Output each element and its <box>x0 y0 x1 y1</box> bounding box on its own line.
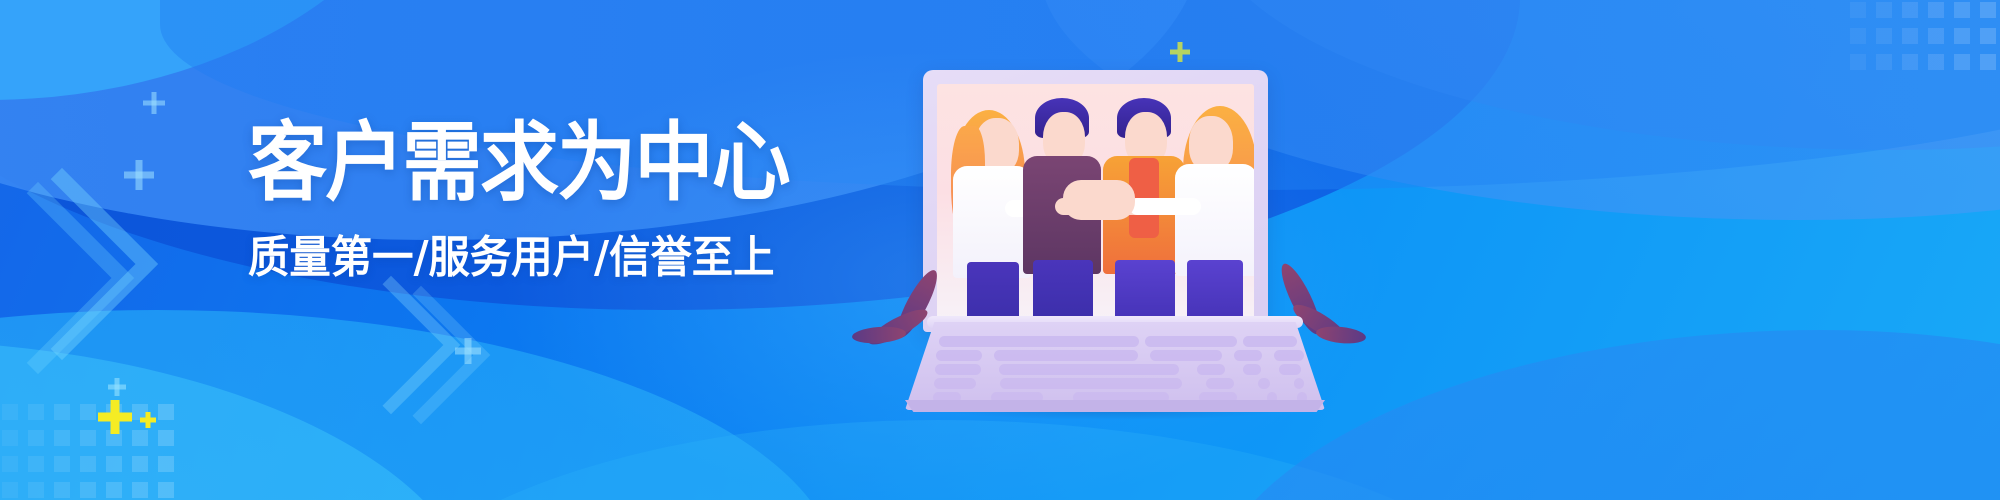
keyboard-key <box>1243 336 1297 347</box>
promotional-banner: 客户需求为中心 质量第一/服务用户/信誉至上 <box>0 0 2000 500</box>
grid-square <box>1928 54 1944 70</box>
grid-square <box>80 482 96 498</box>
leaf-left-3 <box>852 325 907 345</box>
grid-square <box>1954 2 1970 18</box>
grid-square <box>1876 2 1892 18</box>
keyboard-row <box>905 364 1325 375</box>
grid-square <box>80 456 96 472</box>
grid-square <box>2 456 18 472</box>
keyboard-key <box>1243 364 1261 375</box>
plus-icon-soft-bottom <box>108 378 126 396</box>
keyboard-key <box>935 364 981 375</box>
grid-square <box>2 430 18 446</box>
grid-square <box>158 456 174 472</box>
legs <box>1033 260 1093 324</box>
keyboard-row <box>905 350 1325 361</box>
arm <box>1129 198 1201 215</box>
plus-icon-yellow-tiny <box>140 412 156 428</box>
laptop-base-edge <box>905 400 1325 412</box>
keyboard-key <box>1294 378 1304 389</box>
grid-square <box>1980 2 1996 18</box>
grid-square <box>132 456 148 472</box>
background-wave-light-corner <box>0 0 440 100</box>
keyboard-key <box>1258 378 1270 389</box>
grid-square <box>54 404 70 420</box>
keyboard-key <box>1145 336 1237 347</box>
grid-square <box>1876 54 1892 70</box>
grid-square <box>158 404 174 420</box>
grid-square <box>1902 2 1918 18</box>
grid-square <box>54 430 70 446</box>
keyboard-key <box>934 378 976 389</box>
grid-square <box>54 482 70 498</box>
grid-square <box>80 430 96 446</box>
legs <box>1187 260 1243 324</box>
grid-square <box>1928 28 1944 44</box>
grid-square <box>2 404 18 420</box>
keyboard-key <box>1234 350 1262 361</box>
legs <box>1115 260 1175 324</box>
keyboard-key <box>939 336 1139 347</box>
keyboard-row <box>905 336 1325 347</box>
keyboard-key <box>1000 378 1182 389</box>
plus-icon-soft-small <box>143 92 165 114</box>
keyboard-key <box>1197 364 1225 375</box>
grid-square <box>28 404 44 420</box>
grid-square <box>132 482 148 498</box>
grid-square <box>1954 28 1970 44</box>
grid-square <box>1876 28 1892 44</box>
banner-headline: 客户需求为中心 <box>248 120 837 206</box>
square-grid-top-right <box>1850 2 1996 70</box>
grid-square <box>54 456 70 472</box>
person-blonde-hair-white-shirt <box>1169 102 1254 324</box>
grid-square <box>1980 54 1996 70</box>
grid-square <box>1928 2 1944 18</box>
grid-square <box>158 430 174 446</box>
keyboard-key <box>1274 350 1304 361</box>
grid-square <box>28 482 44 498</box>
banner-copy-block: 客户需求为中心 质量第一/服务用户/信誉至上 <box>248 120 888 280</box>
banner-subheadline: 质量第一/服务用户/信誉至上 <box>248 236 850 280</box>
plus-icon-yellow-small <box>1170 42 1190 62</box>
grid-square <box>1980 28 1996 44</box>
grid-square <box>28 456 44 472</box>
keyboard-key <box>999 364 1179 375</box>
plus-icon-yellow-bottom <box>98 400 132 434</box>
grid-square <box>1902 28 1918 44</box>
keyboard-key <box>1279 364 1301 375</box>
grid-square <box>1902 54 1918 70</box>
plus-icon-soft-left <box>124 160 154 190</box>
background-wave-bottom-mid <box>360 420 1560 500</box>
laptop-screen <box>937 84 1254 324</box>
keyboard-key <box>1206 378 1234 389</box>
laptop-teamwork-illustration <box>905 70 1325 370</box>
leaf-right-3 <box>1315 324 1366 345</box>
keyboard-key <box>1150 350 1222 361</box>
grid-square <box>106 456 122 472</box>
grid-square <box>106 482 122 498</box>
laptop-lid <box>923 70 1268 332</box>
grid-square <box>1850 54 1866 70</box>
grid-square <box>28 430 44 446</box>
grid-square <box>2 482 18 498</box>
legs <box>967 262 1019 324</box>
keyboard-key <box>936 350 982 361</box>
grid-square <box>132 430 148 446</box>
grid-square <box>80 404 96 420</box>
grid-square <box>1850 2 1866 18</box>
plus-icon-soft-center <box>455 338 481 364</box>
laptop-keyboard-base <box>905 322 1325 410</box>
grid-square <box>1850 28 1866 44</box>
keyboard-row <box>905 378 1325 389</box>
grid-square <box>1954 54 1970 70</box>
keyboard-key <box>994 350 1138 361</box>
stacked-hands <box>1063 180 1135 220</box>
grid-square <box>158 482 174 498</box>
